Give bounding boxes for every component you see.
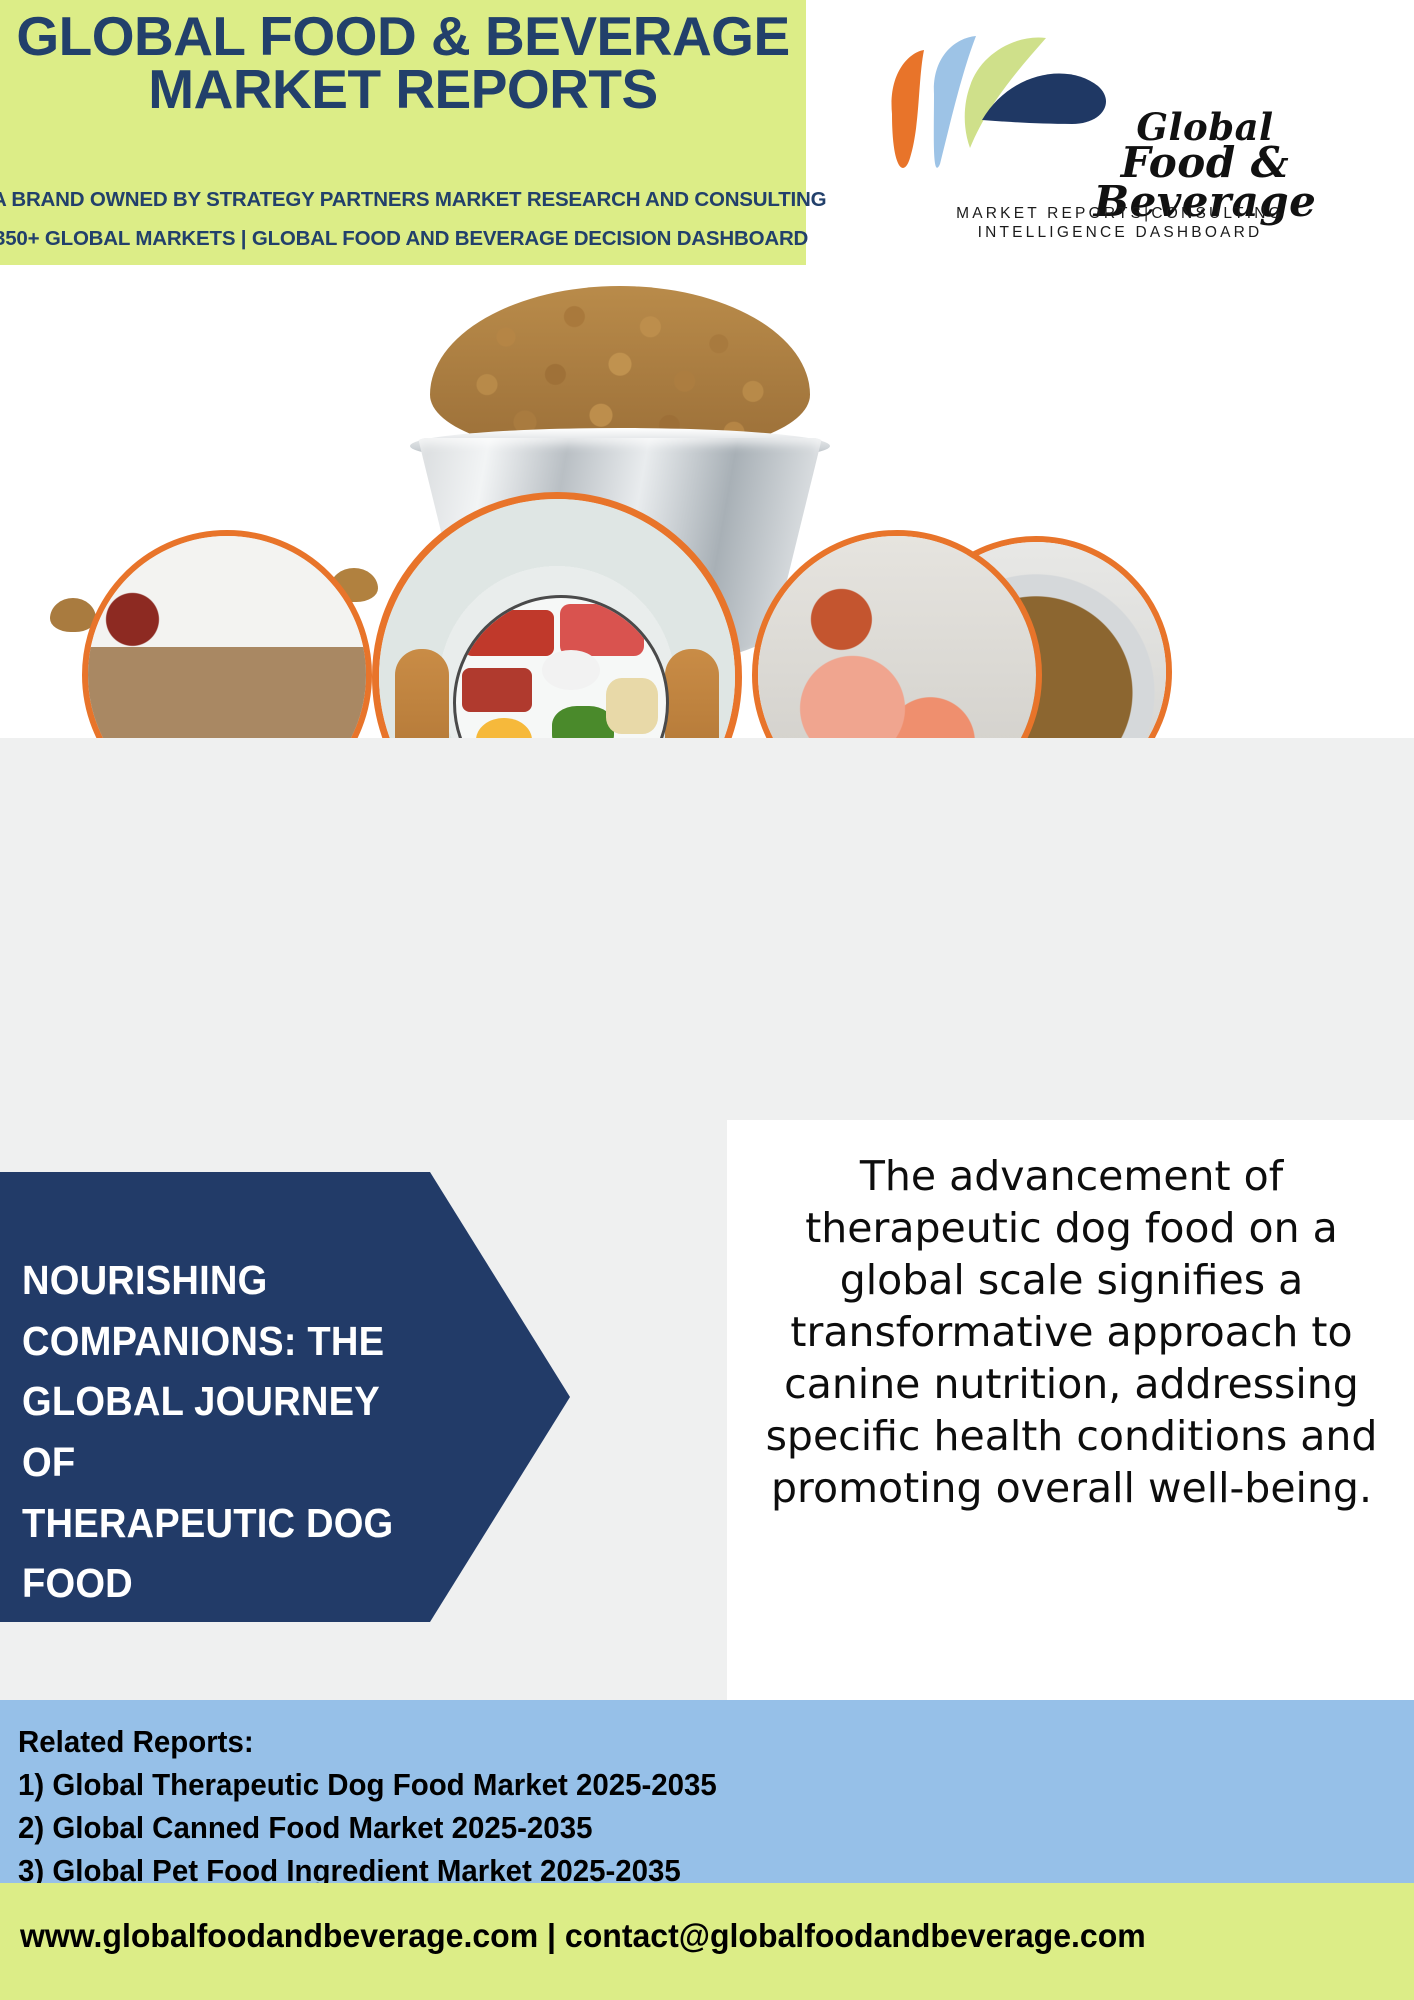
footer-band: www.globalfoodandbeverage.com | contact@… (0, 1883, 1414, 2000)
company-logo: Global Food & Beverage MARKET REPORTS|CO… (830, 22, 1400, 250)
dried-herbs-photo (82, 530, 372, 738)
related-report-item[interactable]: 2) Global Canned Food Market 2025-2035 (18, 1806, 1329, 1849)
headline-line-1: NOURISHING (22, 1250, 431, 1311)
poster-page: GLOBAL FOOD & BEVERAGE MARKET REPORTS A … (0, 0, 1414, 2000)
raw-meat-bowl-photo (372, 492, 742, 738)
logo-tagline-line-2: INTELLIGENCE DASHBOARD (840, 223, 1400, 242)
related-reports-list: Related Reports: 1) Global Therapeutic D… (18, 1720, 1329, 1892)
headline-text: NOURISHING COMPANIONS: THE GLOBAL JOURNE… (22, 1250, 431, 1614)
logo-tagline: MARKET REPORTS|CONSULTING INTELLIGENCE D… (840, 204, 1400, 243)
headline-line-3: GLOBAL JOURNEY OF (22, 1371, 431, 1492)
related-reports-heading: Related Reports: (18, 1720, 1329, 1763)
brand-subtitle-markets: 350+ GLOBAL MARKETS | GLOBAL FOOD AND BE… (0, 227, 814, 251)
logo-tagline-line-1: MARKET REPORTS|CONSULTING (840, 204, 1400, 223)
hero-image-area (0, 268, 1414, 738)
brand-title: GLOBAL FOOD & BEVERAGE MARKET REPORTS (0, 10, 806, 117)
description-text: The advancement of therapeutic dog food … (749, 1150, 1394, 1514)
footer-contact[interactable]: www.globalfoodandbeverage.com | contact@… (20, 1917, 1368, 1955)
description-panel: The advancement of therapeutic dog food … (727, 1120, 1414, 1700)
header: GLOBAL FOOD & BEVERAGE MARKET REPORTS A … (0, 0, 1414, 268)
related-reports-band: Related Reports: 1) Global Therapeutic D… (0, 1700, 1414, 1883)
brand-subtitle-ownership: A BRAND OWNED BY STRATEGY PARTNERS MARKE… (0, 188, 806, 212)
related-report-item[interactable]: 1) Global Therapeutic Dog Food Market 20… (18, 1763, 1329, 1806)
headline-line-2: COMPANIONS: THE (22, 1311, 431, 1372)
headline-line-4: THERAPEUTIC DOG FOOD (22, 1493, 431, 1614)
